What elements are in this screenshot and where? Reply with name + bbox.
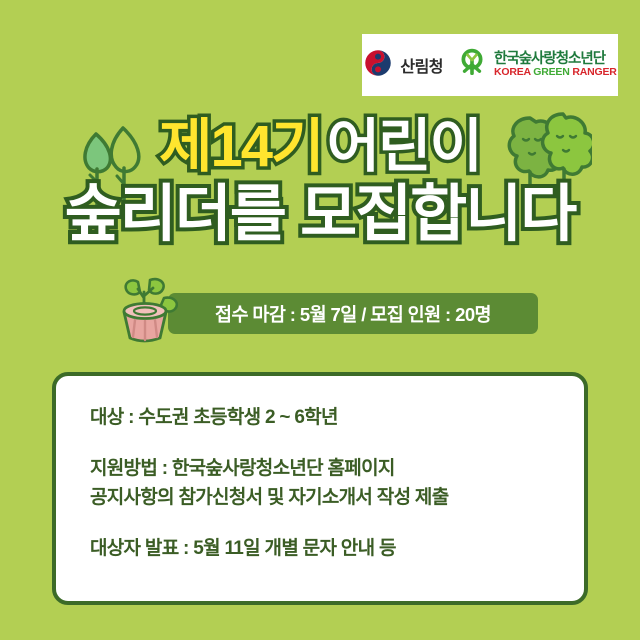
wordmark-korea: KOREA	[494, 66, 531, 78]
info-line: 공지사항의 참가신청서 및 자기소개서 작성 제출	[90, 484, 550, 513]
wordmark-ranger: RANGER	[572, 66, 616, 78]
poster-canvas: 산림청 한국숲사랑청소년단 KOREA GREEN RANGER	[0, 0, 640, 640]
headline-line-1: 제14기 어린이	[0, 118, 640, 176]
headline-main: 숲리더를 모집합니다	[65, 180, 576, 249]
green-ranger-logo-group: 한국숲사랑청소년단 KOREA GREEN RANGER	[457, 48, 617, 83]
info-line: 지원방법 : 한국숲사랑청소년단 홈페이지	[90, 455, 550, 484]
deadline-text: 접수 마감 : 5월 7일 / 모집 인원 : 20명	[215, 301, 491, 327]
green-ranger-logo	[457, 48, 487, 83]
green-ranger-korean-label: 한국숲사랑청소년단	[494, 52, 617, 67]
wordmark-green: GREEN	[533, 66, 569, 78]
info-block-eligibility: 대상 : 수도권 초등학생 2 ~ 6학년	[90, 404, 550, 433]
info-line: 대상자 발표 : 5월 11일 개별 문자 안내 등	[90, 535, 550, 564]
deadline-banner: 접수 마감 : 5월 7일 / 모집 인원 : 20명	[168, 293, 538, 334]
info-card: 대상 : 수도권 초등학생 2 ~ 6학년 지원방법 : 한국숲사랑청소년단 홈…	[52, 372, 588, 605]
info-line: 대상 : 수도권 초등학생 2 ~ 6학년	[90, 404, 550, 433]
forest-service-label: 산림청	[400, 53, 443, 77]
info-block-how-to-apply: 지원방법 : 한국숲사랑청소년단 홈페이지 공지사항의 참가신청서 및 자기소개…	[90, 455, 550, 513]
sprouting-stump-icon	[108, 276, 196, 346]
headline: 제14기 어린이 숲리더를 모집합니다	[0, 118, 640, 246]
green-ranger-english-label: KOREA GREEN RANGER	[494, 67, 617, 78]
info-block-announcement: 대상자 발표 : 5월 11일 개별 문자 안내 등	[90, 535, 550, 564]
taegeuk-logo	[363, 48, 393, 83]
headline-line-2: 숲리더를 모집합니다	[0, 184, 640, 246]
logo-bar: 산림청 한국숲사랑청소년단 KOREA GREEN RANGER	[362, 34, 618, 96]
forest-service-logo-group: 산림청	[363, 48, 443, 83]
headline-cohort: 제14기	[159, 114, 322, 179]
headline-audience: 어린이	[327, 114, 481, 179]
green-ranger-wordmark: 한국숲사랑청소년단 KOREA GREEN RANGER	[494, 52, 617, 78]
